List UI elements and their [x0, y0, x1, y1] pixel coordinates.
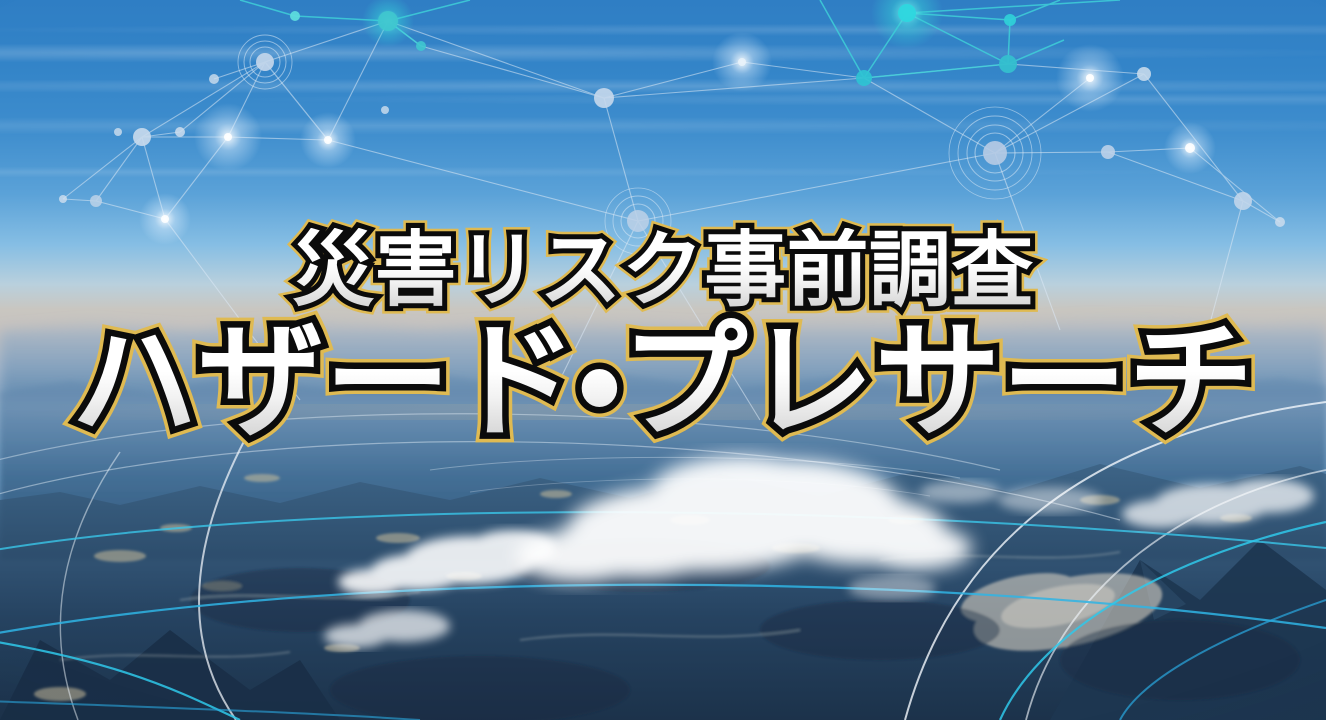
- sky-gradient-background: [0, 0, 1326, 720]
- hero-banner: 災害リスク事前調査 災害リスク事前調査 災害リスク事前調査 ハザード・プレサーチ…: [0, 0, 1326, 720]
